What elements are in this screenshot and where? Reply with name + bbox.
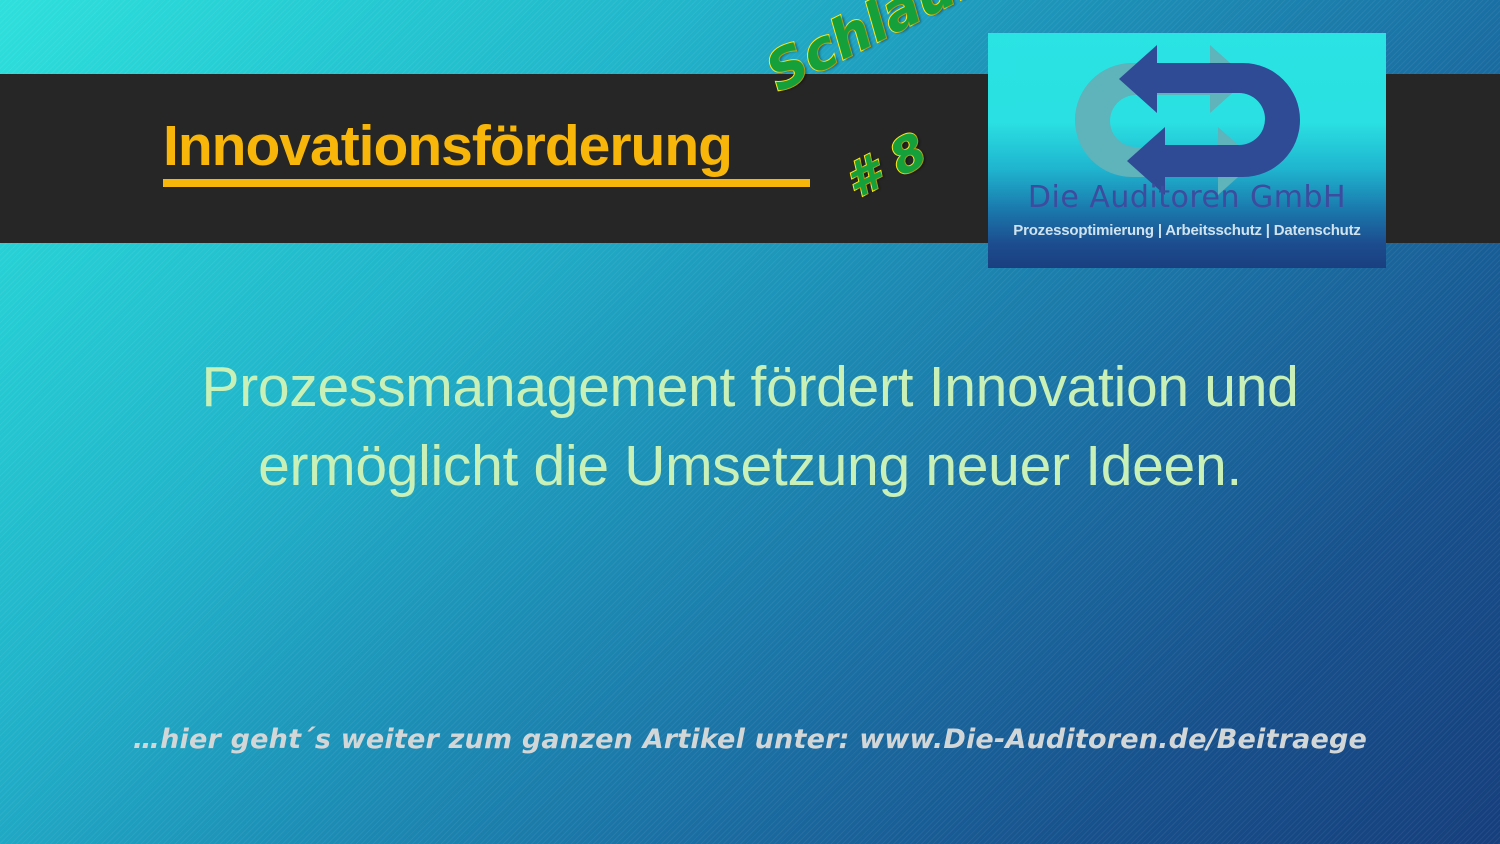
footer-article-link[interactable]: …hier geht´s weiter zum ganzen Artikel u… [0, 724, 1500, 755]
title-underline [163, 179, 810, 187]
logo-tagline: Prozessoptimierung | Arbeitsschutz | Dat… [988, 223, 1386, 238]
cyclical-arrows-icon [1070, 45, 1305, 195]
presentation-slide: Innovationsförderung Schlaubatz # 8 Die … [0, 0, 1500, 844]
page-title: Innovationsförderung [163, 118, 732, 175]
company-logo[interactable]: Die Auditoren GmbH Prozessoptimierung | … [988, 33, 1386, 268]
slide-statement: Prozessmanagement fördert Innovation und… [110, 348, 1390, 505]
logo-company-name: Die Auditoren GmbH [988, 183, 1386, 213]
